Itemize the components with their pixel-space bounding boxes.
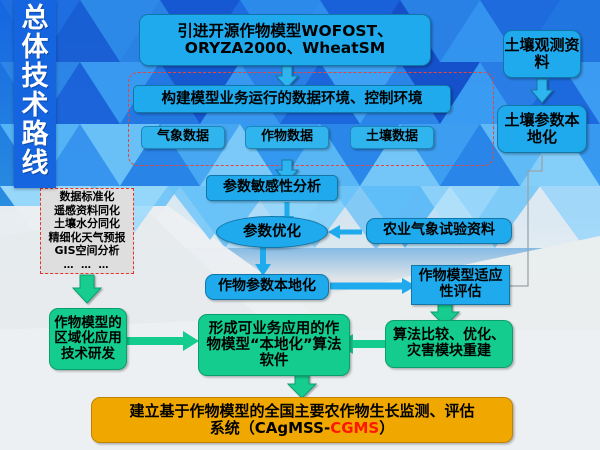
node-agmet-experiment-data[interactable]: 农业气象试验资料 (366, 218, 512, 244)
final-system-cgms: CGMS (330, 419, 379, 437)
final-system-line2: 系统（CAgMSS-CGMS） (210, 420, 395, 437)
tech-item-1: 遥感资料同化 (54, 204, 120, 218)
arrow-cropparam-to-adapteval (330, 278, 416, 294)
node-soil-parameter-localization[interactable]: 土壤参数本地化 (497, 105, 587, 153)
diagram-canvas: 总体技术路线 引进开源作物模型WOFOST、ORYZA2000、WheatSM … (0, 0, 600, 450)
technology-list-box: 数据标准化 遥感资料同化 土壤水分同化 精细化天气预报 GIS空间分析 … … … (40, 188, 134, 274)
vertical-title-banner: 总体技术路线 (14, 0, 56, 188)
arrow-soilobs-to-soilparam (531, 79, 553, 103)
arrow-agmet-to-optim (328, 225, 362, 239)
tech-list-ellipsis: … … … (64, 258, 111, 273)
node-open-source-models[interactable]: 引进开源作物模型WOFOST、ORYZA2000、WheatSM (139, 14, 431, 66)
node-crop-data[interactable]: 作物数据 (245, 126, 329, 149)
node-final-system[interactable]: 建立基于作物模型的全国主要农作物生长监测、评估 系统（CAgMSS-CGMS） (91, 397, 513, 443)
node-regional-application-research[interactable]: 作物模型的区域化应用技术研发 (49, 308, 127, 370)
tech-item-0: 数据标准化 (60, 190, 115, 204)
node-algorithm-comparison[interactable]: 算法比较、优化、灾害模块重建 (385, 320, 513, 368)
node-crop-parameter-localization[interactable]: 作物参数本地化 (205, 274, 329, 300)
node-data-environment[interactable]: 构建模型业务运行的数据环境、控制环境 (133, 85, 451, 113)
tech-item-4: GIS空间分析 (54, 244, 119, 258)
node-soil-data[interactable]: 土壤数据 (350, 126, 434, 149)
node-localization-algorithm-software[interactable]: 形成可业务应用的作物模型“本地化”算法软件 (198, 314, 350, 376)
page-title: 总体技术路线 (14, 4, 56, 178)
final-system-suffix: ） (379, 419, 394, 437)
node-model-adaptability-evaluation[interactable]: 作物模型适应性评估 (411, 265, 510, 305)
node-parameter-sensitivity-analysis[interactable]: 参数敏感性分析 (206, 175, 338, 201)
arrow-optim-to-cropparam (255, 246, 271, 276)
arrow-regional-to-software (126, 331, 199, 351)
node-parameter-optimization[interactable]: 参数优化 (216, 216, 328, 248)
final-system-prefix: 系统（CAgMSS- (210, 419, 330, 437)
final-system-line1: 建立基于作物模型的全国主要农作物生长监测、评估 (129, 403, 474, 420)
node-weather-data[interactable]: 气象数据 (141, 126, 225, 149)
tech-item-2: 土壤水分同化 (54, 217, 120, 231)
tech-item-3: 精细化天气预报 (49, 231, 126, 245)
node-soil-observation[interactable]: 土壤观测资料 (503, 30, 581, 78)
arrow-software-to-final (288, 375, 316, 398)
arrow-techlist-to-regional (73, 275, 101, 303)
